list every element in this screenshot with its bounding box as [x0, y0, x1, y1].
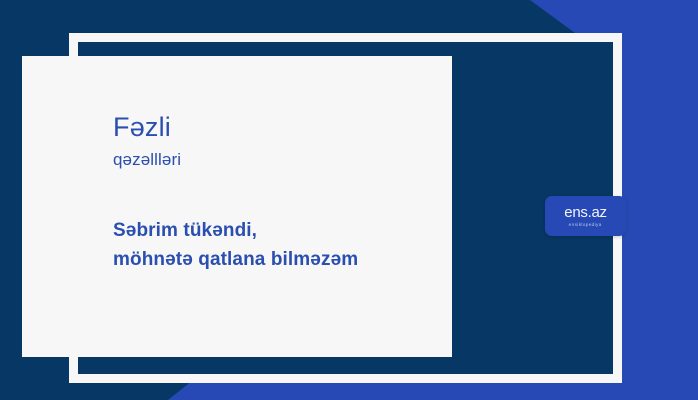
poem-quote: Səbrim tükəndi, möhnətə qatlana bilməzəm: [113, 217, 463, 273]
poem-work-type: qəzəllləri: [113, 150, 463, 170]
logo-wordmark: ens.az: [564, 205, 606, 220]
poem-text-block: Fəzli qəzəllləri Səbrim tükəndi, möhnətə…: [113, 112, 463, 274]
poem-author-name: Fəzli: [113, 112, 463, 143]
ens-az-logo-badge[interactable]: ens.az ensiklopediya: [545, 196, 626, 236]
poster-canvas: Fəzli qəzəllləri Səbrim tükəndi, möhnətə…: [0, 0, 698, 400]
logo-tagline: ensiklopediya: [569, 223, 602, 228]
poem-quote-line-2: möhnətə qatlana bilməzəm: [113, 246, 463, 274]
poem-quote-line-1: Səbrim tükəndi,: [113, 217, 463, 245]
